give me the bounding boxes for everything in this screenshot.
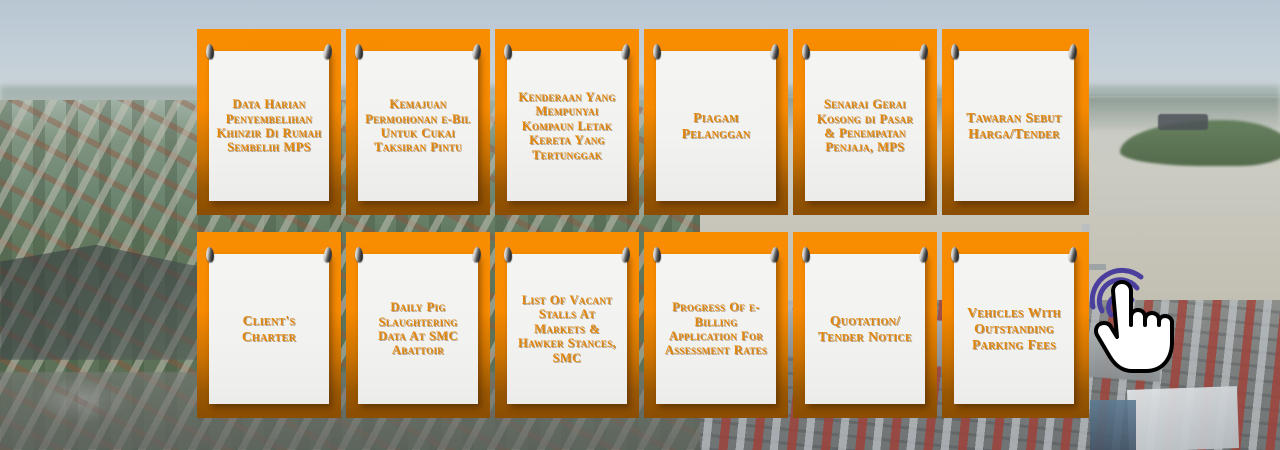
- blue-facade-building: [1090, 400, 1136, 450]
- paper-clip-icon: [323, 44, 332, 60]
- paper-clip-icon: [323, 247, 332, 263]
- quick-links-row-2: Client's Charter Daily Pig Slaughtering …: [197, 232, 1081, 418]
- quick-link-label: List Of Vacant Stalls At Markets & Hawke…: [512, 293, 622, 365]
- white-rooftop-building: [1127, 386, 1239, 450]
- quick-link-card[interactable]: Piagam Pelanggan: [656, 51, 776, 201]
- paper-clip-icon: [354, 247, 363, 263]
- paper-clip-icon: [1068, 44, 1077, 60]
- paper-clip-icon: [919, 44, 928, 60]
- paper-clip-icon: [503, 44, 512, 60]
- paper-clip-icon: [205, 247, 214, 263]
- paper-clip-icon: [621, 247, 630, 263]
- paper-clip-icon: [472, 247, 481, 263]
- quick-link-card[interactable]: Senarai Gerai Kosong di Pasar & Penempat…: [805, 51, 925, 201]
- quick-link-panel-progress-of-e-billing-application[interactable]: Progress Of e-Billing Application For As…: [644, 232, 788, 418]
- paper-clip-icon: [205, 44, 214, 60]
- paper-clip-icon: [354, 44, 363, 60]
- quick-link-card[interactable]: Progress Of e-Billing Application For As…: [656, 254, 776, 404]
- quick-link-panel-data-harian-penyembelihan-khinzir[interactable]: Data Harian Penyembelihan Khinzir Di Rum…: [197, 29, 341, 215]
- quick-link-card[interactable]: List Of Vacant Stalls At Markets & Hawke…: [507, 254, 627, 404]
- paper-clip-icon: [801, 44, 810, 60]
- quick-link-panel-kemajuan-permohonan-e-bil[interactable]: Kemajuan Permohonan e-Bil Untuk Cukai Ta…: [346, 29, 490, 215]
- paper-clip-icon: [652, 44, 661, 60]
- quick-link-card[interactable]: Quotation/ Tender Notice: [805, 254, 925, 404]
- quick-link-panel-senarai-gerai-kosong[interactable]: Senarai Gerai Kosong di Pasar & Penempat…: [793, 29, 937, 215]
- quick-link-panel-vehicles-with-outstanding-parking-fees[interactable]: Vehicles With Outstanding Parking Fees: [942, 232, 1089, 418]
- quick-link-panel-quotation-tender-notice[interactable]: Quotation/ Tender Notice: [793, 232, 937, 418]
- paper-clip-icon: [621, 44, 630, 60]
- paper-clip-icon: [1068, 247, 1077, 263]
- quick-link-label: Progress Of e-Billing Application For As…: [661, 300, 771, 358]
- quick-link-panel-daily-pig-slaughtering-data[interactable]: Daily Pig Slaughtering Data At SMC Abatt…: [346, 232, 490, 418]
- quick-link-label: Quotation/ Tender Notice: [810, 313, 920, 345]
- quick-links-grid: Data Harian Penyembelihan Khinzir Di Rum…: [197, 29, 1081, 421]
- quick-link-label: Kemajuan Permohonan e-Bil Untuk Cukai Ta…: [363, 97, 473, 155]
- quick-link-card[interactable]: Kemajuan Permohonan e-Bil Untuk Cukai Ta…: [358, 51, 478, 201]
- quick-link-label: Daily Pig Slaughtering Data At SMC Abatt…: [363, 300, 473, 358]
- quick-link-label: Data Harian Penyembelihan Khinzir Di Rum…: [214, 97, 324, 155]
- paper-clip-icon: [770, 247, 779, 263]
- quick-link-label: Tawaran Sebut Harga/Tender: [959, 110, 1069, 142]
- quick-link-card[interactable]: Data Harian Penyembelihan Khinzir Di Rum…: [209, 51, 329, 201]
- paper-clip-icon: [950, 247, 959, 263]
- paper-clip-icon: [652, 247, 661, 263]
- quick-links-row-1: Data Harian Penyembelihan Khinzir Di Rum…: [197, 29, 1081, 215]
- quick-link-card[interactable]: Client's Charter: [209, 254, 329, 404]
- river-barge: [1158, 114, 1208, 130]
- quick-link-card[interactable]: Daily Pig Slaughtering Data At SMC Abatt…: [358, 254, 478, 404]
- quick-link-panel-piagam-pelanggan[interactable]: Piagam Pelanggan: [644, 29, 788, 215]
- quick-link-panel-kenderaan-kompaun-letak-kereta[interactable]: Kenderaan Yang Mempunyai Kompaun Letak K…: [495, 29, 639, 215]
- quick-link-label: Kenderaan Yang Mempunyai Kompaun Letak K…: [512, 90, 622, 162]
- quick-link-card[interactable]: Tawaran Sebut Harga/Tender: [954, 51, 1074, 201]
- quick-link-card[interactable]: Vehicles With Outstanding Parking Fees: [954, 254, 1074, 404]
- paper-clip-icon: [472, 44, 481, 60]
- quick-link-label: Senarai Gerai Kosong di Pasar & Penempat…: [810, 97, 920, 155]
- quick-link-label: Piagam Pelanggan: [661, 110, 771, 142]
- paper-clip-icon: [919, 247, 928, 263]
- quick-link-panel-list-of-vacant-stalls[interactable]: List Of Vacant Stalls At Markets & Hawke…: [495, 232, 639, 418]
- paper-clip-icon: [950, 44, 959, 60]
- quick-link-label: Vehicles With Outstanding Parking Fees: [959, 305, 1069, 353]
- paper-clip-icon: [503, 247, 512, 263]
- quick-link-card[interactable]: Kenderaan Yang Mempunyai Kompaun Letak K…: [507, 51, 627, 201]
- paper-clip-icon: [770, 44, 779, 60]
- paper-clip-icon: [801, 247, 810, 263]
- quick-link-panel-clients-charter[interactable]: Client's Charter: [197, 232, 341, 418]
- quick-link-panel-tawaran-sebut-harga-tender[interactable]: Tawaran Sebut Harga/Tender: [942, 29, 1089, 215]
- quick-link-label: Client's Charter: [214, 313, 324, 345]
